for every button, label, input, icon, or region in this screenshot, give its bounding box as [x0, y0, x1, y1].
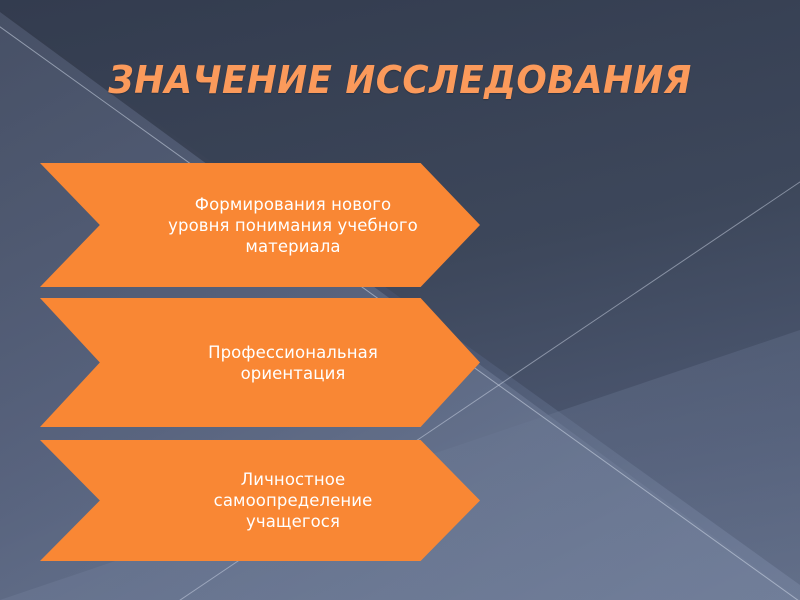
chevron-item-1[interactable]: Формирования нового уровня понимания уче…: [40, 163, 480, 287]
chevron-item-3[interactable]: Личностное самоопределение учащегося: [40, 440, 480, 561]
chevron-label-2: Профессиональная ориентация: [166, 342, 421, 384]
chevron-label-1: Формирования нового уровня понимания уче…: [166, 194, 421, 257]
presentation-slide: ЗНАЧЕНИЕ ИССЛЕДОВАНИЯ Формирования новог…: [0, 0, 800, 600]
chevron-label-3: Личностное самоопределение учащегося: [166, 469, 421, 532]
chevron-item-2[interactable]: Профессиональная ориентация: [40, 298, 480, 427]
chevron-list: Формирования нового уровня понимания уче…: [0, 0, 800, 600]
